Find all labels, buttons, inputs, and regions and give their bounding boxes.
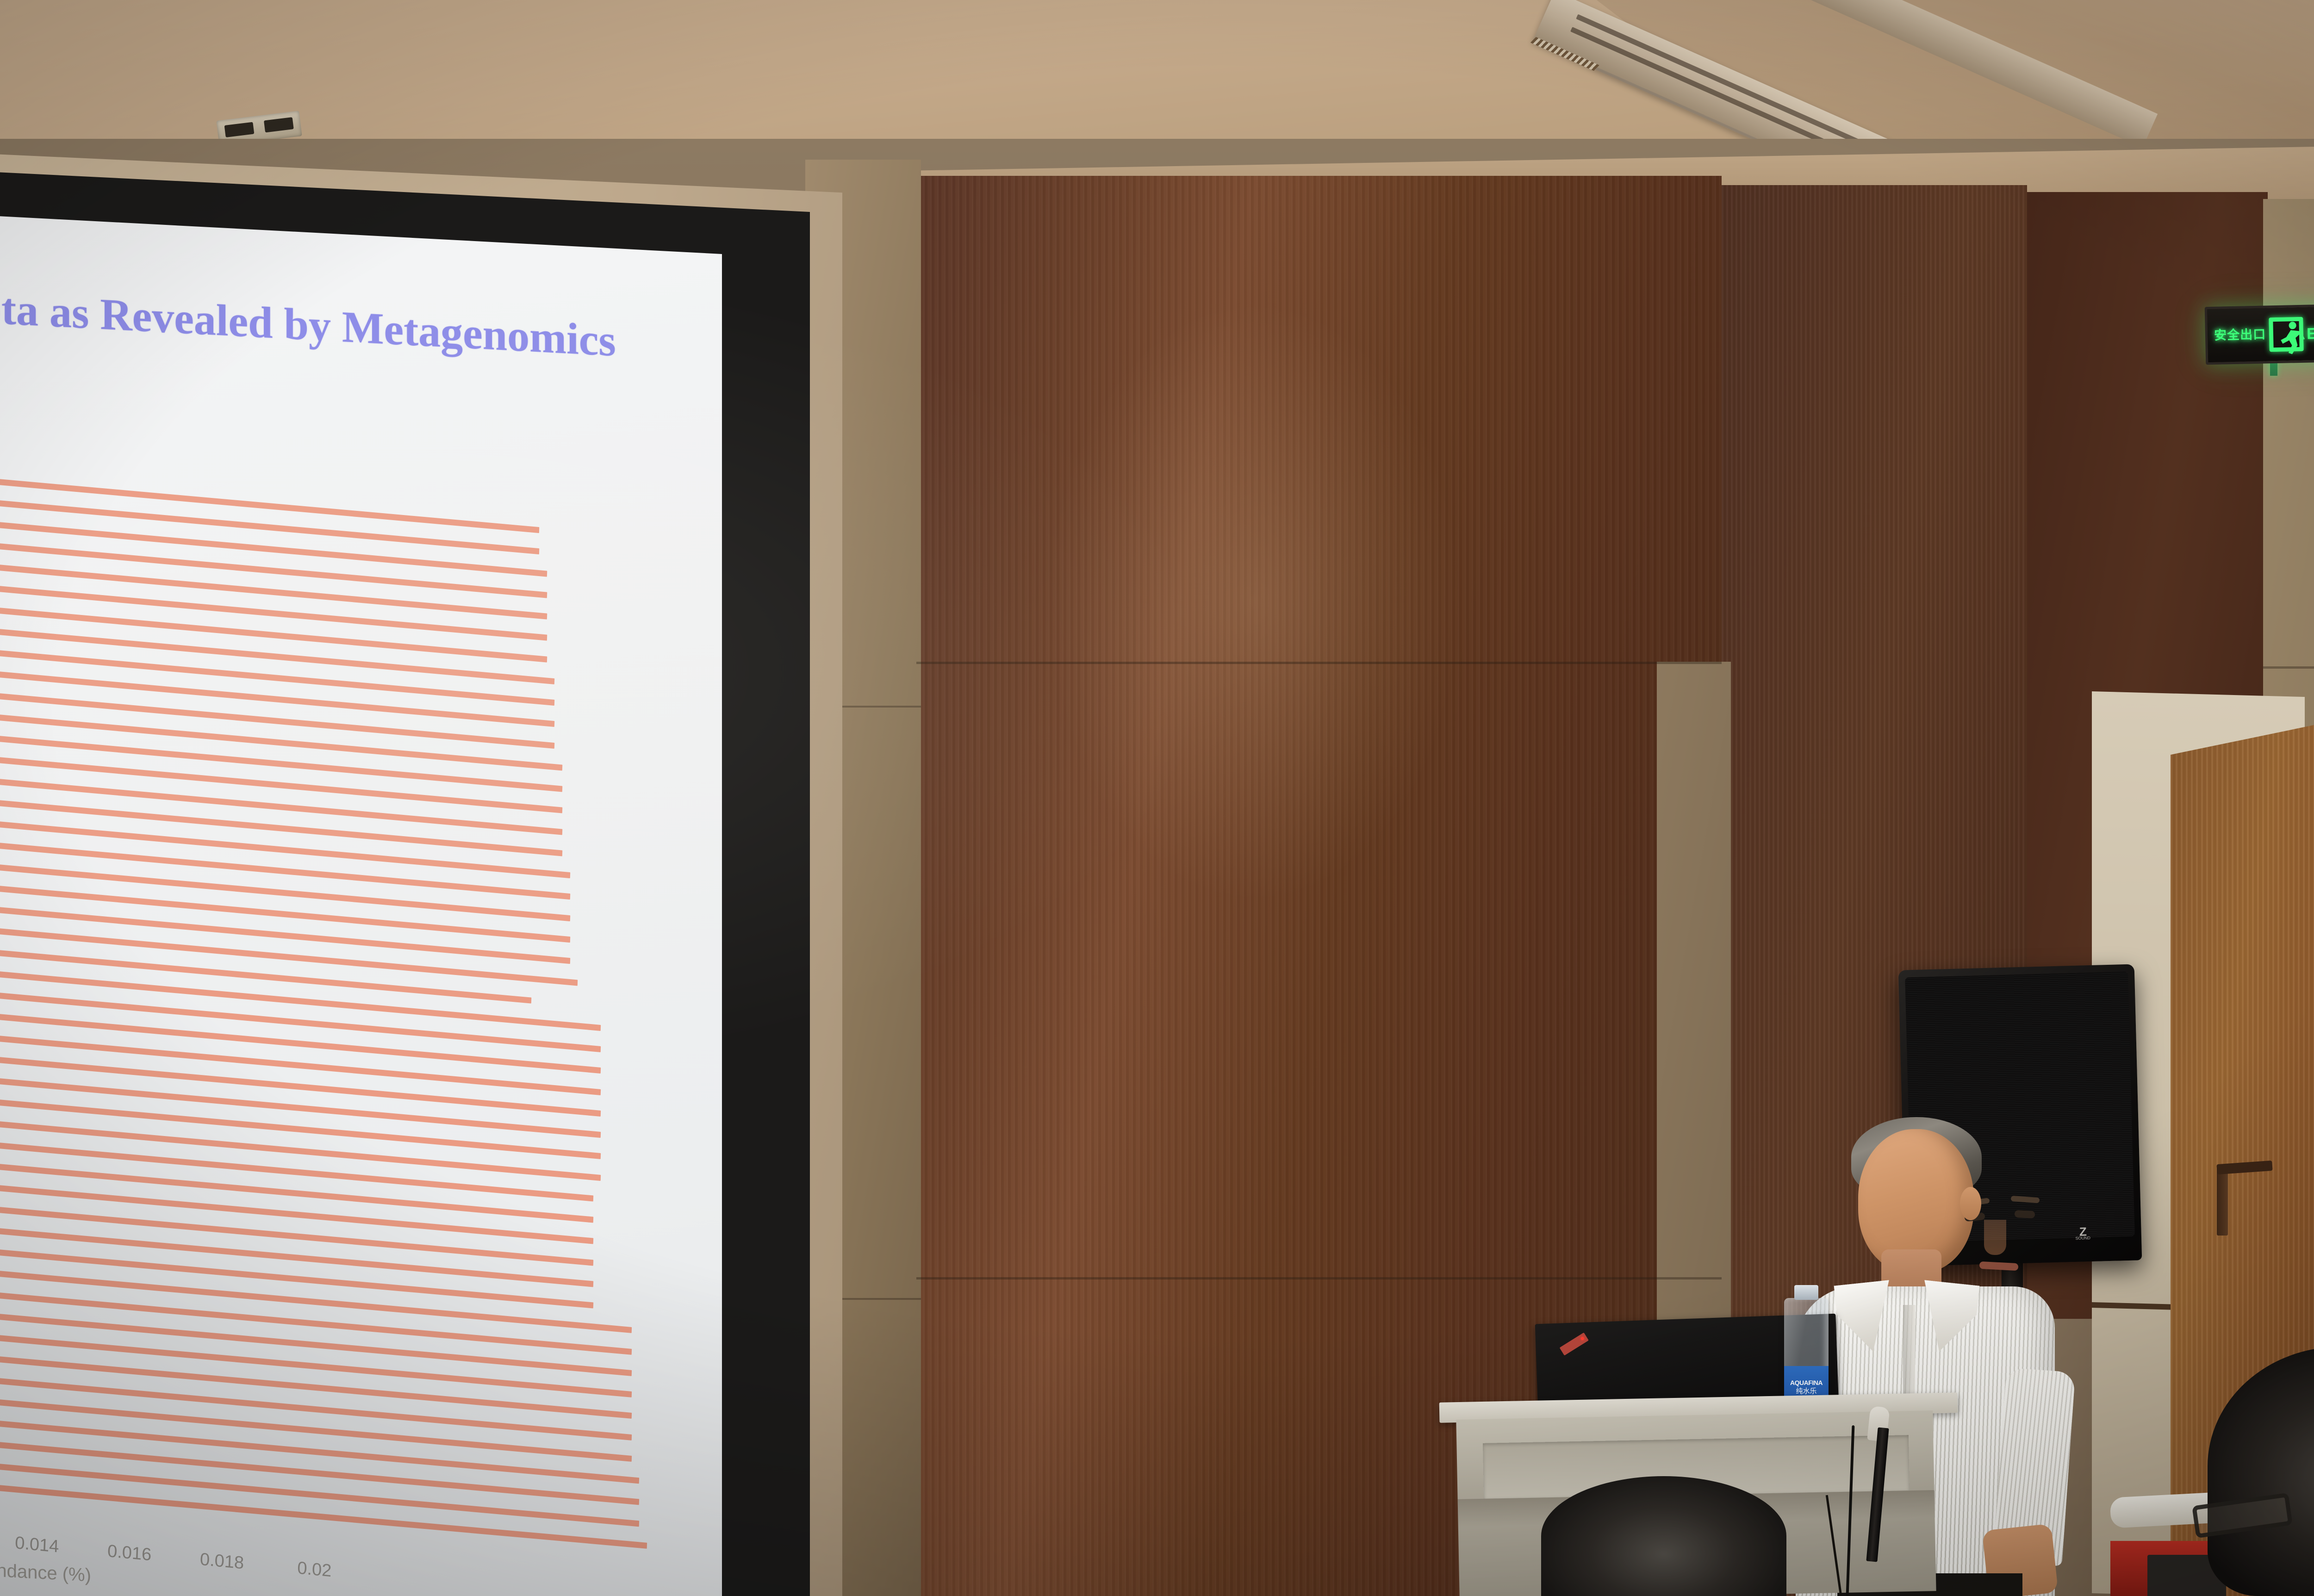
exit-sign: 安全出口 EXIT <box>2205 304 2314 365</box>
presentation-slide: ota as Revealed by Metagenomics 0.0120.0… <box>0 214 722 1596</box>
bar <box>0 1476 647 1548</box>
horizontal-bar-chart <box>0 470 694 1539</box>
wall-seam <box>916 662 1722 664</box>
bar-series <box>0 470 694 1539</box>
bar <box>0 470 539 533</box>
x-tick-label: 0.014 <box>0 1531 84 1559</box>
eye <box>2015 1210 2035 1218</box>
mouth <box>1979 1261 2019 1271</box>
slide-title: ota as Revealed by Metagenomics <box>0 286 701 368</box>
projection-screen: ota as Revealed by Metagenomics 0.0120.0… <box>0 214 722 1596</box>
exit-sign-chinese-label: 安全出口 <box>2214 329 2266 342</box>
nose <box>1984 1220 2006 1255</box>
bottle-brand-cn: 纯水乐 <box>1796 1387 1816 1396</box>
laptop-logo <box>1560 1333 1589 1356</box>
x-tick-label: 0.016 <box>83 1539 176 1567</box>
speaker-brand-badge: Z SOUND <box>2075 1226 2090 1241</box>
bottle-cap <box>1794 1285 1818 1300</box>
door-handle[interactable] <box>2217 1166 2228 1236</box>
eyebrow <box>2011 1196 2040 1203</box>
running-man-icon <box>2269 317 2304 352</box>
bottle-brand-en: AQUAFINA <box>1790 1379 1823 1387</box>
speaker-badge-sub: SOUND <box>2075 1236 2090 1240</box>
ear <box>1960 1187 1981 1220</box>
audience-head <box>1541 1476 1786 1596</box>
exit-sign-stem <box>2270 362 2277 376</box>
wall-seam <box>916 1277 1722 1279</box>
conference-room-scene: 安全出口 EXIT ota as Revealed by Metagenomic… <box>0 0 2314 1596</box>
